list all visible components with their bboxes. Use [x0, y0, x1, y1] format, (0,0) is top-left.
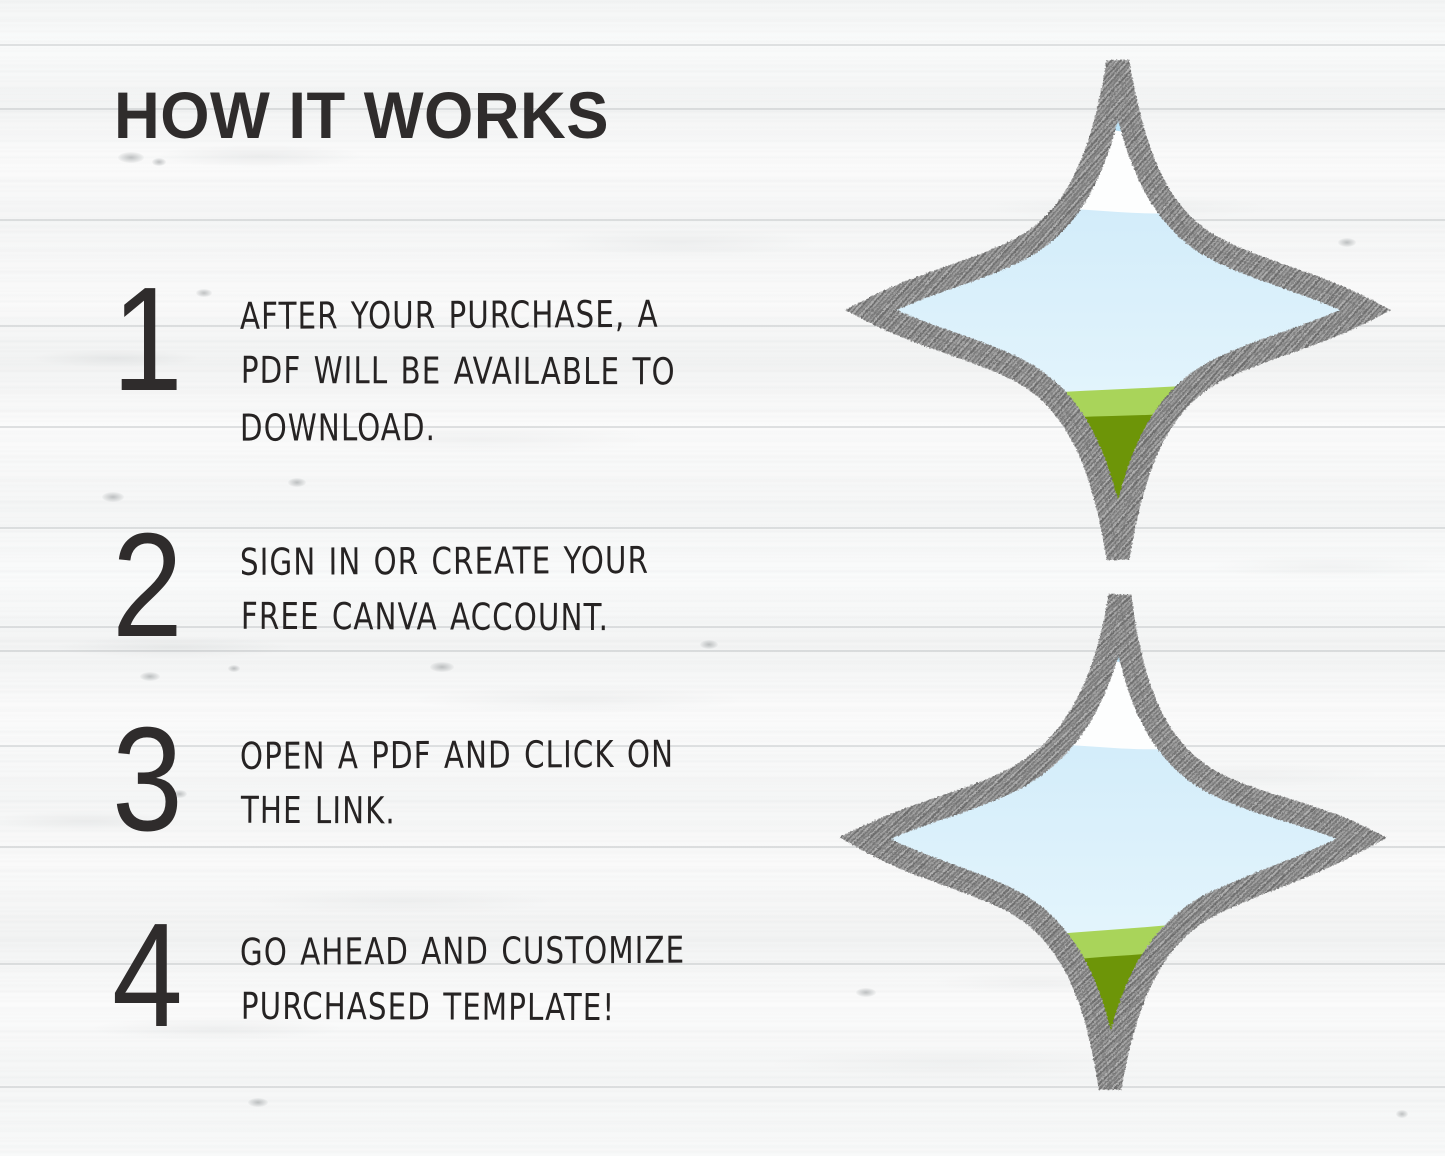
step-item-2: 2 SIGN IN OR CREATE YOUR FREE CANVA ACCO… [112, 528, 815, 644]
wood-knot [1396, 1110, 1408, 1118]
step-text-line: DOWNLOAD. [240, 400, 775, 458]
step-text-line: FREE CANVA ACCOUNT. [241, 590, 776, 648]
step-text-line: GO AHEAD AND CUSTOMIZE [240, 923, 775, 982]
step-number-1: 1 [112, 282, 222, 398]
step-text-line: PDF WILL BE AVAILABLE TO [241, 344, 776, 402]
wood-knot [430, 662, 454, 672]
wood-knot [248, 1098, 268, 1107]
step-text-line: SIGN IN OR CREATE YOUR [240, 533, 775, 592]
wood-knot [140, 672, 160, 681]
step-text-line: AFTER YOUR PURCHASE, A [240, 287, 775, 346]
step-text-4: GO AHEAD AND CUSTOMIZE PURCHASED TEMPLAT… [240, 918, 775, 1037]
step-text-2: SIGN IN OR CREATE YOUR FREE CANVA ACCOUN… [240, 528, 775, 647]
four-pointed-star-landscape-top [862, 54, 1374, 566]
hill-dark-green [852, 398, 1384, 594]
step-number-3: 3 [112, 722, 222, 838]
step-item-4: 4 GO AHEAD AND CUSTOMIZE PURCHASED TEMPL… [112, 918, 815, 1034]
step-text-line: PURCHASED TEMPLATE! [241, 980, 776, 1038]
step-text-line: OPEN A PDF AND CLICK ON [240, 727, 775, 786]
wood-knot [288, 478, 306, 487]
how-it-works-graphic: HOW IT WORKS 1 AFTER YOUR PURCHASE, A PD… [0, 0, 1445, 1156]
step-text-line: THE LINK. [241, 784, 776, 842]
step-text-3: OPEN A PDF AND CLICK ON THE LINK. [240, 722, 775, 841]
step-number-2: 2 [112, 528, 222, 644]
plank-seam-line [0, 44, 1445, 46]
wood-knot [152, 158, 166, 166]
wood-knot [228, 665, 240, 672]
step-text-1: AFTER YOUR PURCHASE, A PDF WILL BE AVAIL… [240, 282, 775, 457]
step-item-3: 3 OPEN A PDF AND CLICK ON THE LINK. [112, 722, 815, 838]
step-item-1: 1 AFTER YOUR PURCHASE, A PDF WILL BE AVA… [112, 282, 815, 447]
four-pointed-star-landscape-bottom [858, 586, 1370, 1098]
wood-knot [118, 152, 144, 163]
step-number-4: 4 [112, 918, 222, 1034]
wood-knot [102, 492, 124, 502]
page-title: HOW IT WORKS [114, 82, 609, 148]
